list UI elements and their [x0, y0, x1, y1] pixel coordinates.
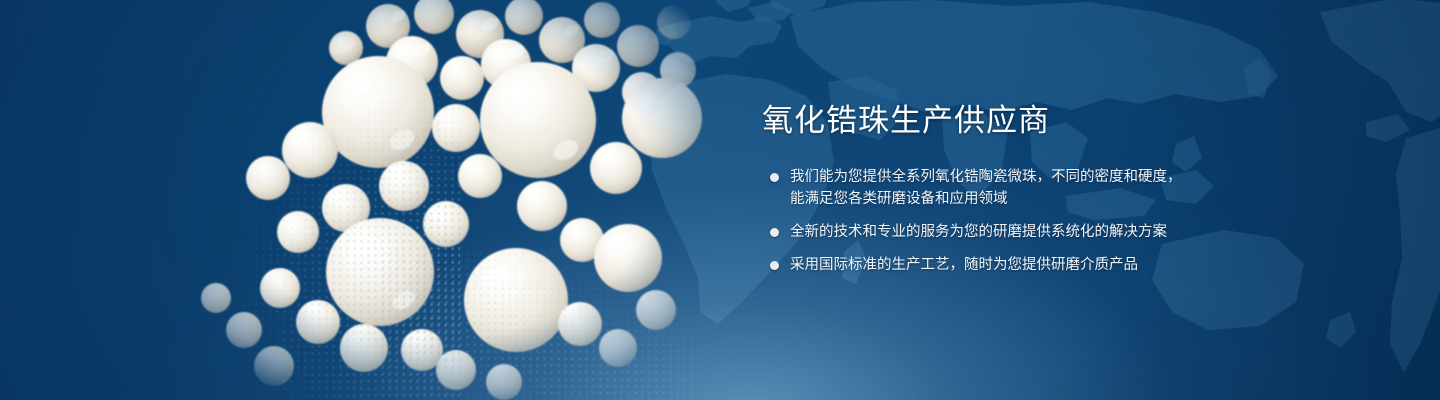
bullet-item-1: 我们能为您提供全系列氧化锆陶瓷微珠，不同的密度和硬度， 能满足您各类研磨设备和应…	[762, 166, 1232, 210]
bullet-text-line1: 采用国际标准的生产工艺，随时为您提供研磨介质产品	[790, 257, 1138, 273]
banner-bullet-list: 我们能为您提供全系列氧化锆陶瓷微珠，不同的密度和硬度， 能满足您各类研磨设备和应…	[762, 166, 1232, 276]
bullet-text-line2: 能满足您各类研磨设备和应用领域	[790, 188, 1232, 210]
bullet-item-2: 全新的技术和专业的服务为您的研磨提供系统化的解决方案	[762, 221, 1232, 243]
bullet-text-line1: 全新的技术和专业的服务为您的研磨提供系统化的解决方案	[790, 224, 1167, 240]
bullet-dot-icon	[770, 173, 779, 182]
bullet-dot-icon	[770, 261, 779, 270]
banner-headline: 氧化锆珠生产供应商	[762, 104, 1232, 138]
bullet-item-3: 采用国际标准的生产工艺，随时为您提供研磨介质产品	[762, 254, 1232, 276]
banner-copy: 氧化锆珠生产供应商 我们能为您提供全系列氧化锆陶瓷微珠，不同的密度和硬度， 能满…	[762, 104, 1232, 276]
bullet-text-line1: 我们能为您提供全系列氧化锆陶瓷微珠，不同的密度和硬度，	[790, 169, 1182, 185]
hero-banner: 氧化锆珠生产供应商 我们能为您提供全系列氧化锆陶瓷微珠，不同的密度和硬度， 能满…	[0, 0, 1440, 400]
bullet-dot-icon	[770, 228, 779, 237]
